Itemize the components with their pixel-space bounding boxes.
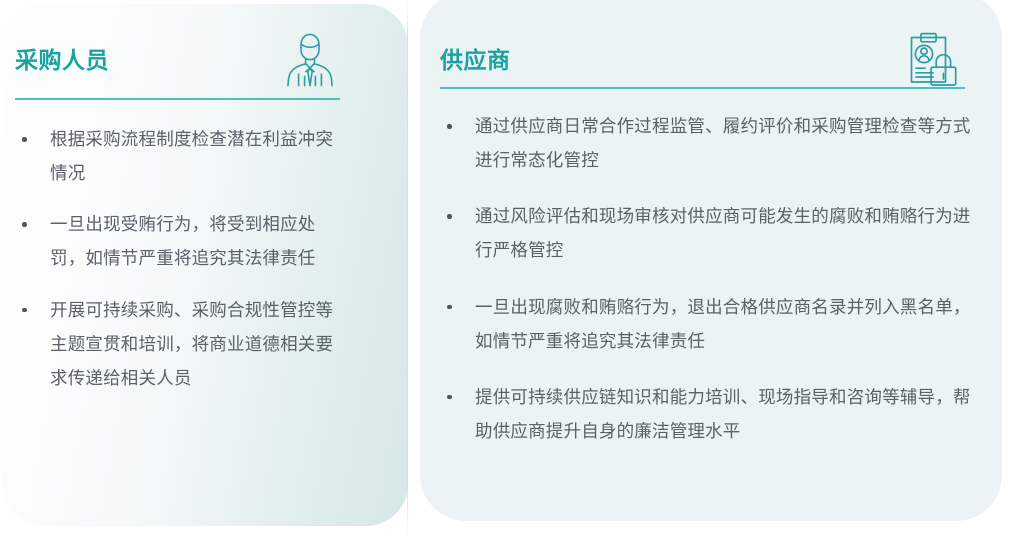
list-item: 一旦出现受贿行为，将受到相应处罚，如情节严重将追究其法律责任 [15,207,345,275]
list-item-text: 开展可持续采购、采购合规性管控等主题宣贯和培训，将商业道德相关要求传递给相关人员 [50,293,345,395]
card-header: 采购人员 [15,37,341,83]
list-item-text: 通过供应商日常合作过程监管、履约评价和采购管理检查等方式进行常态化管控 [475,109,975,177]
slide-canvas: 采购人员 [0,0,1013,537]
bullet-dot-icon [447,124,452,129]
bullet-dot-icon [22,222,27,227]
list-item: 通过风险评估和现场审核对供应商可能发生的腐败和贿赂行为进行严格管控 [440,199,975,267]
businessman-icon [279,31,341,89]
bullet-list: 通过供应商日常合作过程监管、履约评价和采购管理检查等方式进行常态化管控 通过风险… [440,109,975,448]
list-item: 一旦出现腐败和贿赂行为，退出合格供应商名录并列入黑名单，如情节严重将追究其法律责… [440,290,975,358]
bullet-dot-icon [22,308,27,313]
card-header: 供应商 [440,37,965,83]
list-item-text: 一旦出现受贿行为，将受到相应处罚，如情节严重将追究其法律责任 [50,207,345,275]
card-content: 供应商 [420,0,1002,521]
card-procurement-personnel: 采购人员 [2,4,408,526]
card-content: 采购人员 [2,4,408,526]
bullet-list: 根据采购流程制度检查潜在利益冲突情况 一旦出现受贿行为，将受到相应处罚，如情节严… [15,122,345,395]
list-item-text: 通过风险评估和现场审核对供应商可能发生的腐败和贿赂行为进行严格管控 [475,199,975,267]
list-item-text: 提供可持续供应链知识和能力培训、现场指导和咨询等辅导，帮助供应商提升自身的廉洁管… [475,380,975,448]
list-item: 提供可持续供应链知识和能力培训、现场指导和咨询等辅导，帮助供应商提升自身的廉洁管… [440,380,975,448]
list-item: 根据采购流程制度检查潜在利益冲突情况 [15,122,345,190]
list-item-text: 一旦出现腐败和贿赂行为，退出合格供应商名录并列入黑名单，如情节严重将追究其法律责… [475,290,975,358]
card-title: 采购人员 [15,49,109,72]
bullet-dot-icon [22,137,27,142]
list-item-text: 根据采购流程制度检查潜在利益冲突情况 [50,122,345,190]
title-rule [440,87,965,89]
panel-divider [407,0,408,537]
card-title: 供应商 [440,49,511,72]
bullet-dot-icon [447,305,452,310]
list-item: 通过供应商日常合作过程监管、履约评价和采购管理检查等方式进行常态化管控 [440,109,975,177]
bullet-dot-icon [447,214,452,219]
title-rule [15,98,340,100]
list-item: 开展可持续采购、采购合规性管控等主题宣贯和培训，将商业道德相关要求传递给相关人员 [15,293,345,395]
clipboard-lock-icon [903,31,965,89]
card-supplier: 供应商 [420,0,1002,521]
bullet-dot-icon [447,395,452,400]
